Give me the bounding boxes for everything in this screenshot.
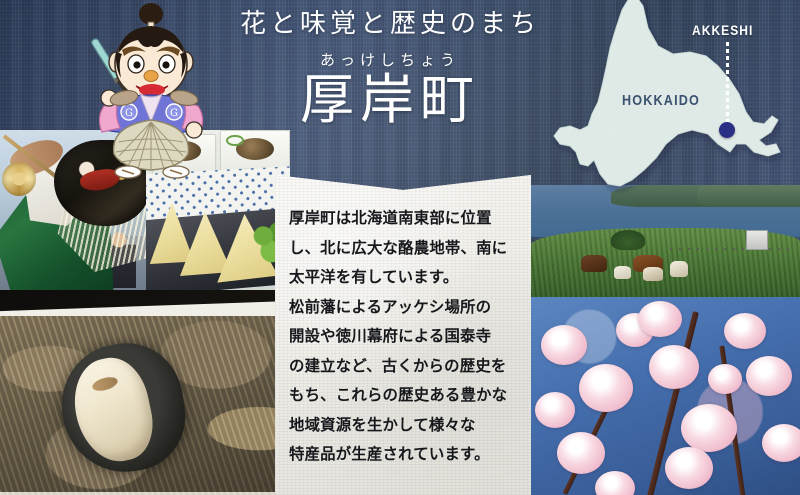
description-panel: 厚岸町は北海道南東部に位置 し、北に広大な酪農地帯、南に 太平洋を有しています。… xyxy=(275,168,531,495)
description-line: 地域資源を生かして様々な xyxy=(289,411,521,441)
festival-brass-rattle xyxy=(2,162,36,196)
sakura-blossom xyxy=(649,345,699,389)
sakura-blossom xyxy=(557,432,605,474)
svg-text:G: G xyxy=(125,108,133,119)
pasture-horse xyxy=(643,267,663,281)
sakura-blossom xyxy=(724,313,766,349)
map-region-label-hokkaido: HOKKAIDO xyxy=(622,92,700,109)
description-line: 特産品が生産されています。 xyxy=(289,440,521,470)
sakura-blossom xyxy=(638,301,682,337)
sakura-blossom xyxy=(681,404,737,452)
headline-block: 花と味覚と歴史のまち あっけしちょう 厚岸町 xyxy=(200,8,580,128)
description-line: 厚岸町は北海道南東部に位置 xyxy=(289,204,521,234)
pasture-horse xyxy=(581,255,607,272)
pasture-horse xyxy=(670,261,688,277)
description-line: もち、これらの歴史ある豊かな xyxy=(289,381,521,411)
catchphrase-text: 花と味覚と歴史のまち xyxy=(200,8,580,41)
description-line: 松前藩によるアッケシ場所の xyxy=(289,293,521,323)
sakura-blossom xyxy=(541,325,587,365)
map-leader-dotted-line xyxy=(726,42,729,129)
description-text: 厚岸町は北海道南東部に位置 し、北に広大な酪農地帯、南に 太平洋を有しています。… xyxy=(289,204,521,470)
map-location-dot-marker xyxy=(719,122,735,138)
mascot-akkeshi-samurai-oyster: G G xyxy=(88,2,214,180)
sakura-blossom xyxy=(579,364,633,412)
photo-oysters xyxy=(0,290,290,495)
description-line: 太平洋を有しています。 xyxy=(289,263,521,293)
sakura-blossom xyxy=(762,424,800,462)
description-line: し、北に広大な酪農地帯、南に xyxy=(289,234,521,264)
town-name-reading: あっけしちょう xyxy=(200,49,580,70)
town-name-title: 厚岸町 xyxy=(200,72,580,129)
pasture-horse xyxy=(614,266,631,279)
pasture-shed xyxy=(746,230,768,250)
map-marker-label-akkeshi: AKKESHI xyxy=(692,22,753,38)
sakura-blossom xyxy=(595,471,635,495)
pasture-bush xyxy=(611,230,645,250)
description-line: 開設や徳川幕府による国泰寺 xyxy=(289,322,521,352)
svg-text:G: G xyxy=(170,108,178,119)
description-line: の建立など、古くからの歴史を xyxy=(289,352,521,382)
poster-canvas: AKKESHI HOKKAIDO xyxy=(0,0,800,495)
pasture-fence xyxy=(670,248,789,250)
photo-cherry-blossoms xyxy=(530,297,800,495)
